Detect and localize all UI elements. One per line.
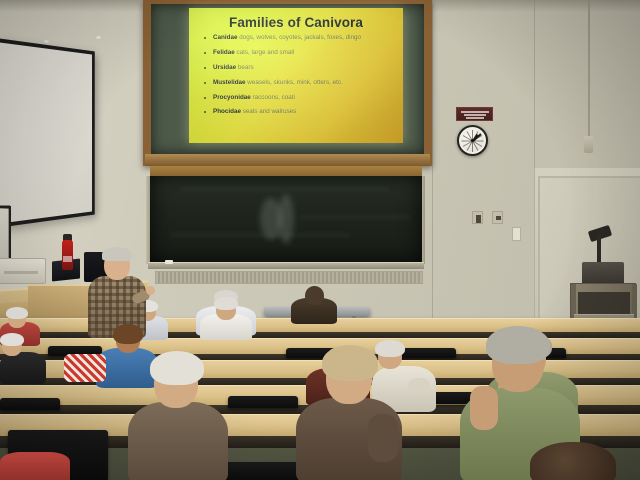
audience-member bbox=[296, 352, 402, 480]
bullet-dot-icon bbox=[204, 52, 206, 54]
hair bbox=[150, 351, 204, 385]
bullet-dot-icon bbox=[204, 111, 206, 113]
audience-member bbox=[530, 442, 616, 480]
clock-face bbox=[461, 129, 484, 152]
fire-extinguisher[interactable] bbox=[62, 240, 73, 270]
overhead-projector[interactable] bbox=[582, 262, 624, 285]
family-name: Phocidae bbox=[213, 108, 241, 115]
checkered-bag bbox=[64, 354, 106, 382]
outlet-slot bbox=[496, 216, 501, 220]
projector-arm bbox=[597, 234, 601, 264]
projection-screen-whiteboard bbox=[0, 38, 95, 228]
chair[interactable] bbox=[228, 396, 298, 408]
ventilation-grille bbox=[155, 271, 423, 284]
plaque-text-line bbox=[466, 117, 484, 119]
cart-shelf-gap bbox=[578, 292, 630, 314]
chalk-mark bbox=[180, 188, 390, 190]
bullet-dot-icon bbox=[204, 82, 206, 84]
family-name: Mustelidae bbox=[213, 79, 246, 86]
family-name: Canidae bbox=[213, 34, 238, 41]
slide-title: Families of Canivora bbox=[189, 15, 403, 30]
cord-weight bbox=[584, 136, 593, 153]
chalk-tray bbox=[148, 262, 424, 269]
wall-outlet[interactable] bbox=[472, 211, 483, 224]
clock-center-pin bbox=[471, 139, 474, 142]
family-description: dogs, wolves, coyotes, jackals, foxes, d… bbox=[239, 34, 361, 41]
hanging-cord bbox=[588, 0, 590, 138]
hair bbox=[113, 324, 143, 344]
hair bbox=[6, 307, 28, 319]
chalk-piece bbox=[165, 260, 173, 264]
slide-bullet: Mustelidae weasels, skunks, mink, otters… bbox=[202, 80, 395, 86]
audience-member bbox=[128, 358, 228, 480]
lecture-hall-photo: Families of Canivora Canidae dogs, wolve… bbox=[0, 0, 640, 480]
presenter-hand bbox=[146, 286, 155, 295]
torso bbox=[128, 402, 228, 480]
whiteboard-lower-panel bbox=[0, 205, 11, 263]
wall-clock bbox=[457, 125, 488, 156]
family-description: bears bbox=[238, 64, 254, 71]
wall-seam bbox=[432, 0, 433, 340]
chair[interactable] bbox=[0, 398, 60, 410]
slide-bullet: Ursidae bears bbox=[202, 65, 395, 71]
light-switch[interactable] bbox=[512, 227, 521, 241]
family-name: Ursidae bbox=[213, 64, 236, 71]
hair bbox=[322, 345, 378, 381]
family-name: Felidae bbox=[213, 49, 235, 56]
wall-outlet[interactable] bbox=[492, 211, 503, 224]
audience-member bbox=[200, 300, 252, 334]
wall-plaque bbox=[456, 107, 493, 121]
plaque-text-line bbox=[464, 114, 486, 116]
arm bbox=[408, 378, 430, 394]
plaque-text-line bbox=[461, 111, 489, 113]
hair bbox=[0, 333, 24, 346]
extinguisher-tag bbox=[63, 256, 72, 262]
audience-member bbox=[0, 336, 46, 380]
bullet-dot-icon bbox=[204, 67, 206, 69]
wall-mark bbox=[96, 36, 101, 39]
slide-bullet: Phocidae seals and walruses bbox=[202, 109, 395, 115]
slide-bullet: Felidae cats, large and small bbox=[202, 50, 395, 56]
chalkboard bbox=[150, 176, 422, 264]
slide-bullet: Procyonidae raccoons, coati bbox=[202, 95, 395, 101]
screen-frame: Families of Canivora Canidae dogs, wolve… bbox=[143, 0, 432, 166]
family-description: cats, large and small bbox=[236, 49, 294, 56]
audience-bag bbox=[64, 348, 106, 382]
hair bbox=[486, 326, 550, 364]
arm bbox=[470, 386, 498, 430]
bullet-dot-icon bbox=[204, 37, 206, 39]
slide-bullet: Canidae dogs, wolves, coyotes, jackals, … bbox=[202, 35, 395, 41]
audience-member bbox=[0, 452, 70, 480]
projected-slide: Families of Canivora Canidae dogs, wolve… bbox=[189, 8, 403, 143]
family-name: Procyonidae bbox=[213, 94, 251, 101]
family-description: weasels, skunks, mink, otters, etc. bbox=[247, 79, 343, 86]
outlet-slot bbox=[476, 219, 481, 223]
hair bbox=[530, 442, 616, 480]
chalk-mark bbox=[300, 216, 410, 218]
arm bbox=[368, 414, 398, 462]
chalk-mark bbox=[170, 234, 350, 236]
printer[interactable] bbox=[0, 258, 46, 284]
torso bbox=[0, 352, 46, 384]
hair bbox=[214, 297, 238, 310]
torso bbox=[0, 452, 70, 480]
family-description: seals and walruses bbox=[243, 108, 297, 115]
head bbox=[305, 286, 324, 305]
chalk-mark bbox=[278, 194, 294, 244]
printer-paper-slot bbox=[4, 271, 38, 274]
wall-mark bbox=[44, 40, 49, 43]
bullet-dot-icon bbox=[204, 97, 206, 99]
slide-bullet-list: Canidae dogs, wolves, coyotes, jackals, … bbox=[202, 35, 395, 124]
presenter-hair bbox=[102, 247, 132, 261]
family-description: raccoons, coati bbox=[253, 94, 295, 101]
chalkboard-top-trim bbox=[150, 166, 422, 176]
audience-member bbox=[291, 286, 337, 320]
screen-bottom-rail bbox=[145, 154, 430, 166]
